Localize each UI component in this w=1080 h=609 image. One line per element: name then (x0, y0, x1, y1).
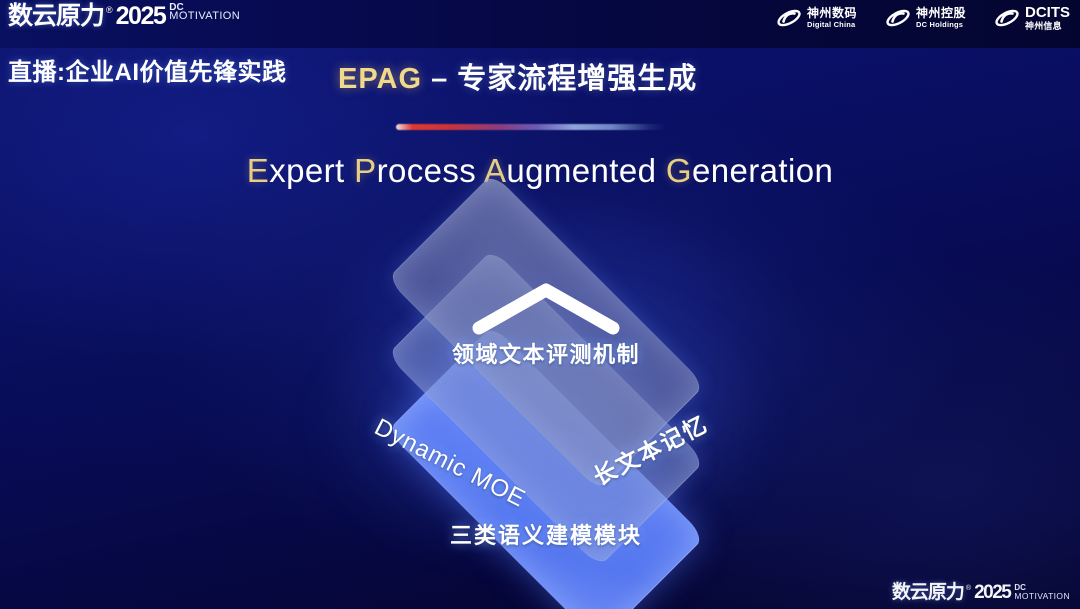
watermark-name-cn: 数云原力 (892, 582, 964, 603)
watermark-motivation-text: MOTIVATION (1014, 592, 1070, 601)
brand-dc-motivation: DC MOTIVATION (169, 3, 240, 21)
slide-title-abbr: EPAG (338, 63, 422, 95)
livestream-title: 直播:企业AI价值先锋实践 (8, 52, 287, 87)
chevron-up-icon (471, 280, 621, 336)
partner-logo-label: 神州数码 Digital China (807, 7, 857, 29)
slide-title: EPAG – 专家流程增强生成 (338, 55, 697, 97)
swirl-logo-icon (776, 5, 802, 31)
watermark-dc-motivation: DC MOTIVATION (1014, 583, 1070, 601)
watermark-year: 2025 (974, 582, 1010, 603)
subtitle-word-expert: xpert (269, 152, 344, 189)
partner-name-en: 神州信息 (1025, 22, 1070, 31)
brand-motivation-text: MOTIVATION (169, 12, 240, 21)
partner-name-cn: 神州数码 (807, 7, 857, 19)
partner-logo-row: 神州数码 Digital China 神州控股 DC Holdings DCIT… (776, 5, 1070, 31)
partner-name-cn: DCITS (1025, 5, 1070, 20)
partner-logo-dcits: DCITS 神州信息 (994, 5, 1070, 31)
slide-title-rest: – 专家流程增强生成 (422, 63, 697, 95)
accent-divider-line (396, 124, 666, 130)
partner-name-en: Digital China (807, 21, 857, 29)
brand-logo: 数云原力 ® 2025 DC MOTIVATION (8, 2, 240, 30)
partner-logo-dc-holdings: 神州控股 DC Holdings (885, 5, 966, 31)
layer-stack-diagram: 领域文本评测机制 Dynamic MOE 长文本记忆 三类语义建模模块 (286, 224, 806, 584)
brand-year: 2025 (116, 2, 166, 30)
subtitle-initial-e: E (247, 152, 269, 189)
partner-name-en: DC Holdings (916, 21, 966, 29)
watermark-logo: 数云原力 ® 2025 DC MOTIVATION (892, 582, 1070, 603)
partner-logo-digital-china: 神州数码 Digital China (776, 5, 857, 31)
subtitle-initial-p: P (354, 152, 376, 189)
subtitle-word-generation: eneration (692, 152, 833, 189)
partner-logo-label: 神州控股 DC Holdings (916, 7, 966, 29)
brand-registered-mark: ® (106, 4, 113, 16)
watermark-registered-mark: ® (966, 584, 971, 593)
partner-name-cn: 神州控股 (916, 7, 966, 19)
slide-canvas: 数云原力 ® 2025 DC MOTIVATION 直播:企业AI价值先锋实践 … (0, 0, 1080, 609)
swirl-logo-icon (885, 5, 911, 31)
brand-name-cn: 数云原力 (8, 2, 104, 30)
partner-logo-label: DCITS 神州信息 (1025, 5, 1070, 31)
swirl-logo-icon (994, 5, 1020, 31)
